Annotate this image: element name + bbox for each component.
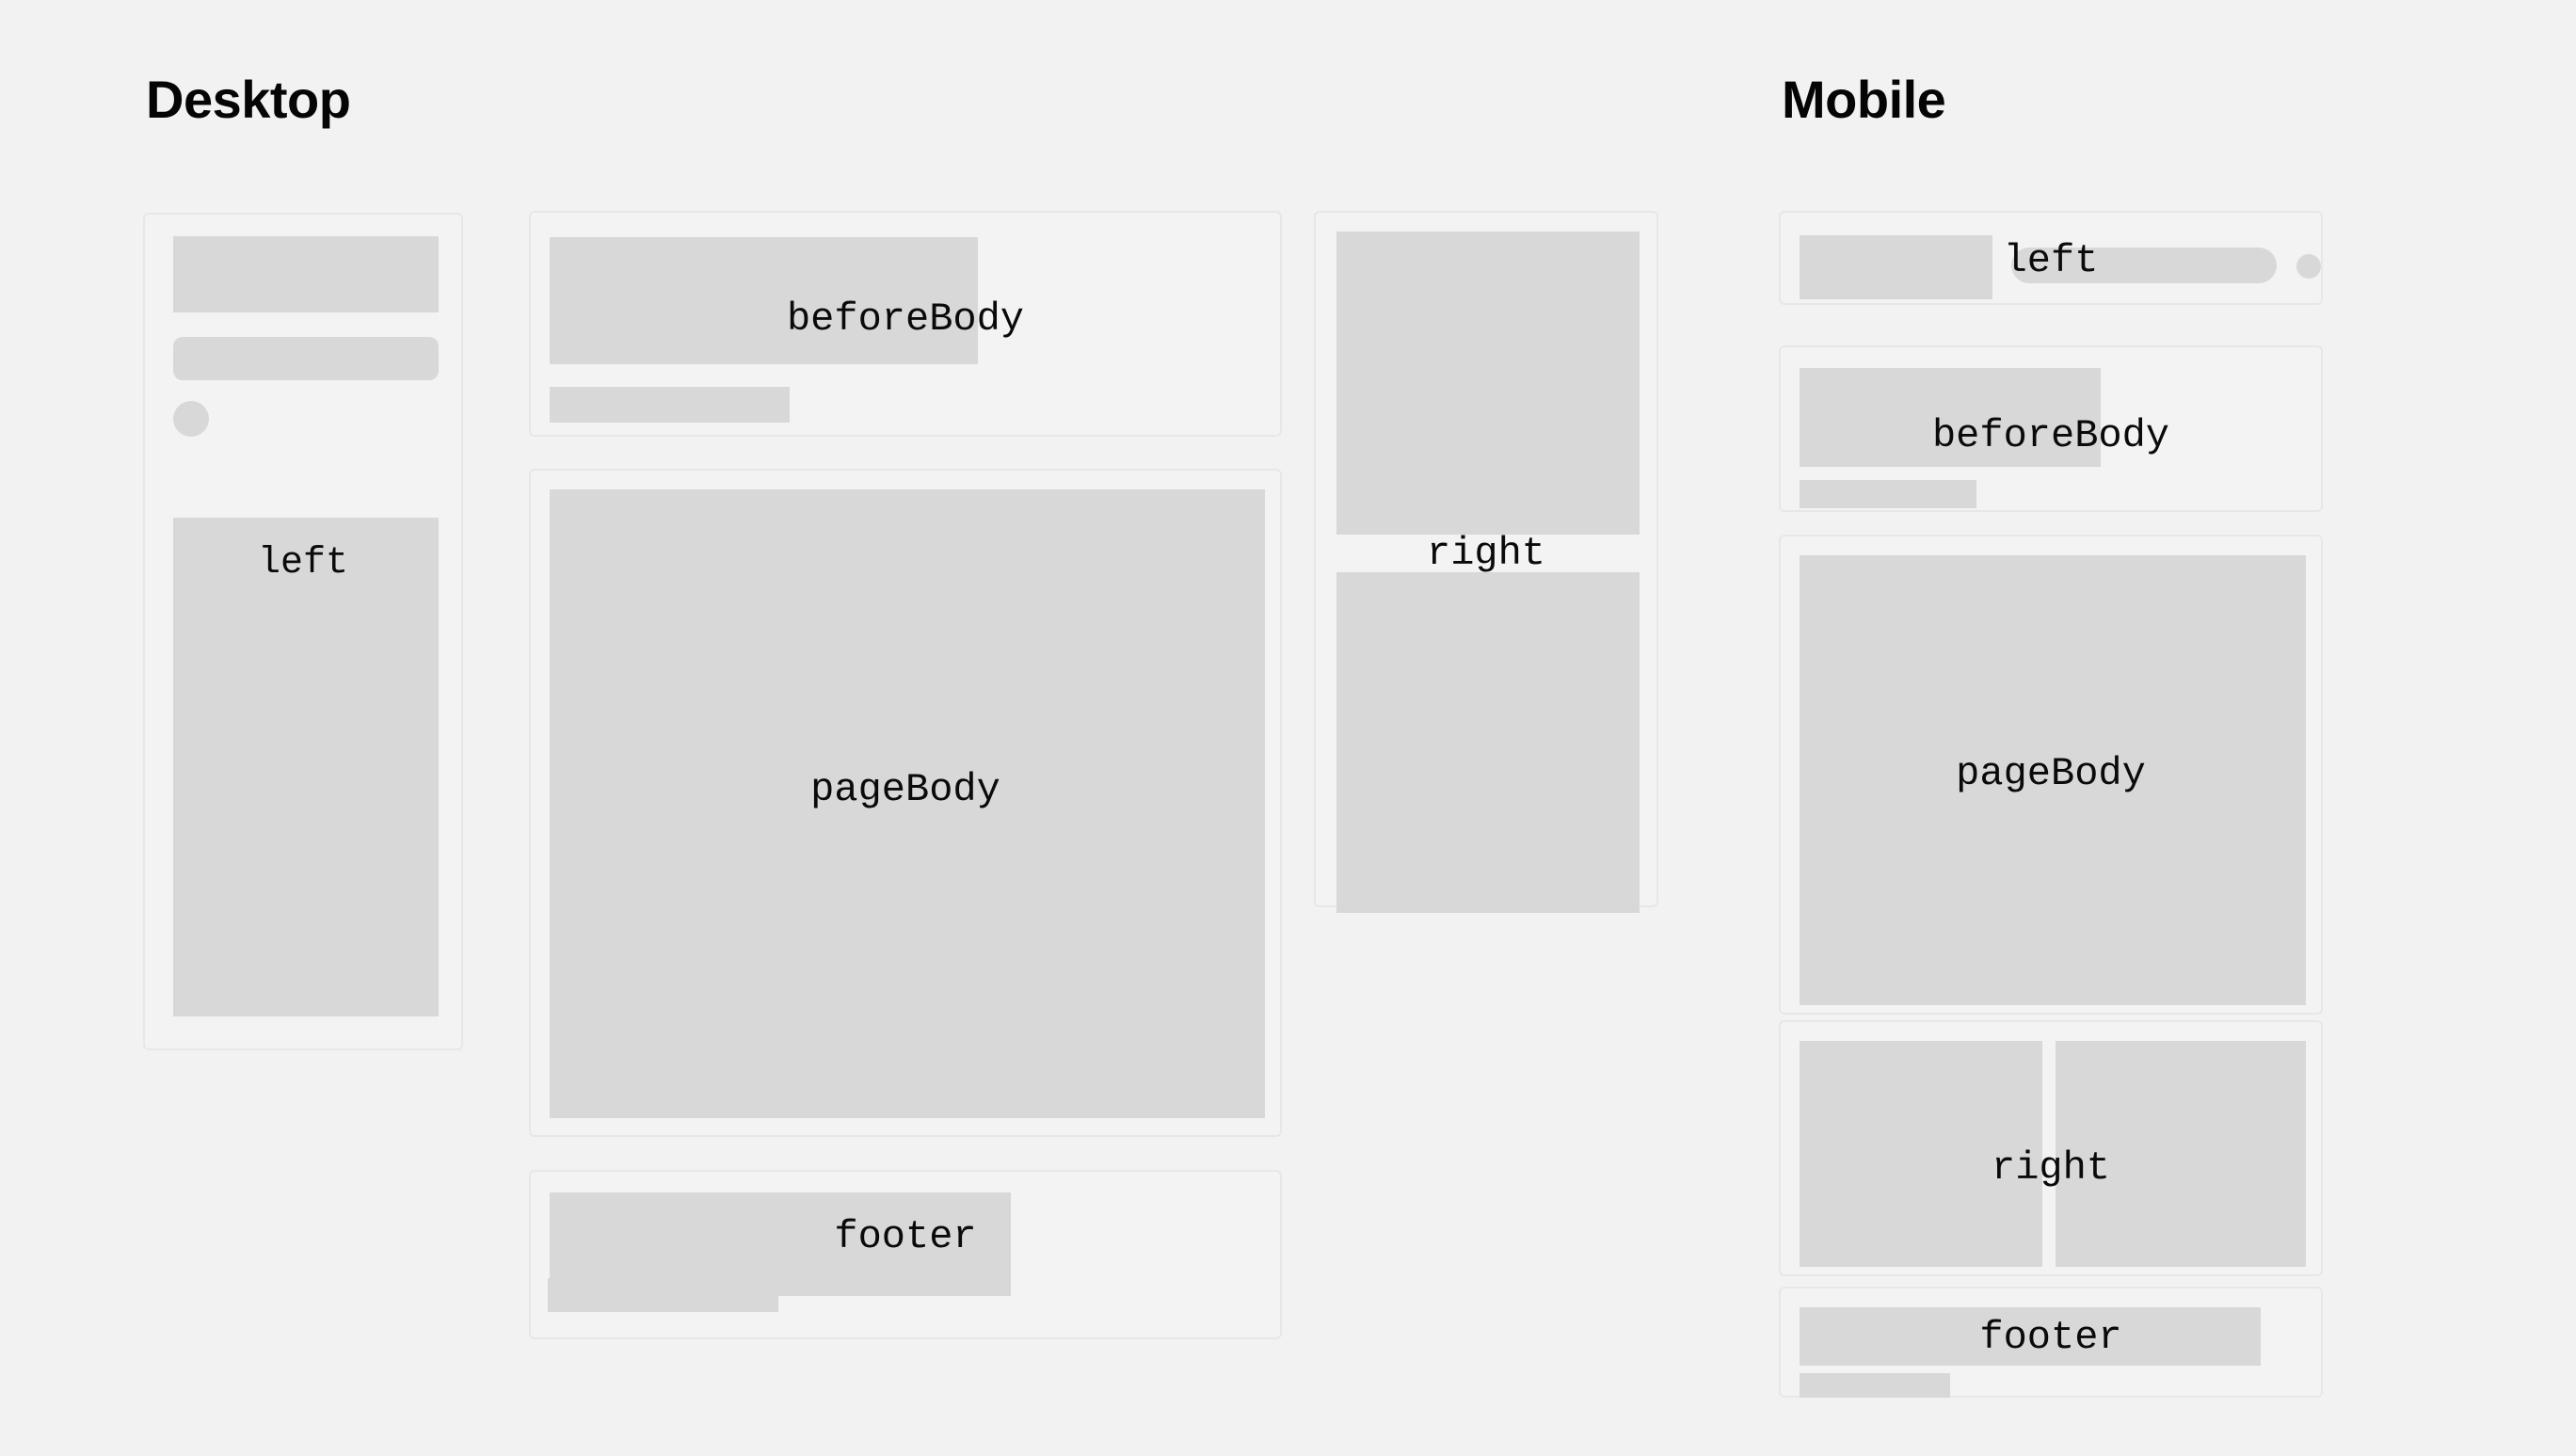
skeleton-block — [1336, 572, 1640, 913]
skeleton-pill — [2011, 248, 2277, 283]
skeleton-block — [550, 237, 978, 364]
skeleton-block-large — [1800, 555, 2306, 1005]
skeleton-block — [1800, 1307, 2261, 1366]
skeleton-block — [2056, 1041, 2306, 1267]
desktop-slot-before-body-panel[interactable] — [529, 211, 1282, 437]
skeleton-block-large — [550, 489, 1265, 1118]
desktop-slot-left-panel[interactable] — [143, 213, 463, 1050]
skeleton-block — [173, 236, 439, 312]
skeleton-bar — [1800, 1373, 1950, 1398]
skeleton-avatar-circle — [173, 401, 209, 437]
desktop-slot-right-panel[interactable] — [1314, 211, 1658, 907]
desktop-slot-page-body-panel[interactable] — [529, 469, 1282, 1137]
page-title-desktop: Desktop — [146, 73, 350, 126]
skeleton-block — [1336, 232, 1640, 535]
skeleton-bar — [1800, 480, 1976, 508]
skeleton-bar — [550, 387, 790, 423]
skeleton-block — [1800, 368, 2101, 467]
skeleton-block-tall — [173, 518, 439, 1016]
page-title-mobile: Mobile — [1782, 73, 1945, 126]
skeleton-avatar-circle — [2296, 254, 2321, 279]
skeleton-block — [1800, 235, 1992, 299]
mobile-slot-footer-panel[interactable] — [1779, 1287, 2323, 1398]
skeleton-bar — [173, 337, 439, 380]
mobile-slot-right-panel[interactable] — [1779, 1020, 2323, 1276]
skeleton-bar — [548, 1278, 778, 1312]
mobile-slot-left-panel[interactable] — [1779, 211, 2323, 305]
mobile-slot-before-body-panel[interactable] — [1779, 345, 2323, 512]
desktop-slot-footer-panel[interactable] — [529, 1170, 1282, 1339]
skeleton-block — [1800, 1041, 2042, 1267]
mobile-slot-page-body-panel[interactable] — [1779, 535, 2323, 1015]
